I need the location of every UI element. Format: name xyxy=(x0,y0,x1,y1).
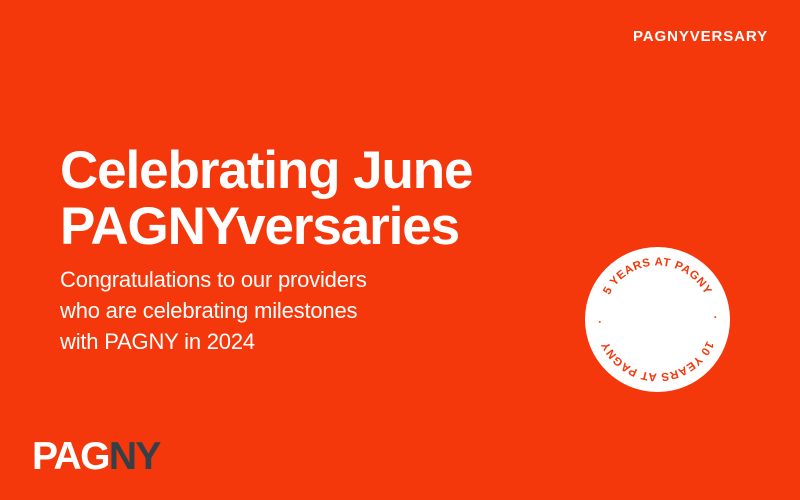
headline-line-2: PAGNYversaries xyxy=(60,199,472,255)
pagnyversary-banner: PAGNYVERSARY Celebrating June PAGNYversa… xyxy=(0,0,800,500)
subtitle-line-1: Congratulations to our providers xyxy=(60,264,367,295)
seal-bottom-textpath: 10 YEARS AT PAGNY xyxy=(600,339,716,382)
seal-text-ring: 5 YEARS AT PAGNY 10 YEARS AT PAGNY · · xyxy=(585,247,730,392)
subtitle: Congratulations to our providers who are… xyxy=(60,264,367,358)
logo-text-pag: PAG xyxy=(32,435,109,478)
logo-text-ny: NY xyxy=(109,435,160,478)
seal-separator-right-textpath: · xyxy=(708,315,720,320)
seal-bottom-text: 10 YEARS AT PAGNY xyxy=(600,339,716,382)
page-title: Celebrating June PAGNYversaries xyxy=(60,143,472,255)
seal-separator-left: · xyxy=(594,319,606,324)
seal-separator-right: · xyxy=(708,315,720,320)
subtitle-line-2: who are celebrating milestones xyxy=(60,295,367,326)
seal-top-text: 5 YEARS AT PAGNY xyxy=(601,256,713,296)
headline-line-1: Celebrating June xyxy=(60,143,472,199)
seal-separator-left-textpath: · xyxy=(594,319,606,324)
subtitle-line-3: with PAGNY in 2024 xyxy=(60,326,367,357)
pagny-logo: PAGNY xyxy=(32,437,160,476)
seal-top-textpath: 5 YEARS AT PAGNY xyxy=(601,256,713,296)
anniversary-seal-badge: 5 YEARS AT PAGNY 10 YEARS AT PAGNY · · xyxy=(585,247,730,392)
eyebrow-label: PAGNYVERSARY xyxy=(633,29,768,44)
